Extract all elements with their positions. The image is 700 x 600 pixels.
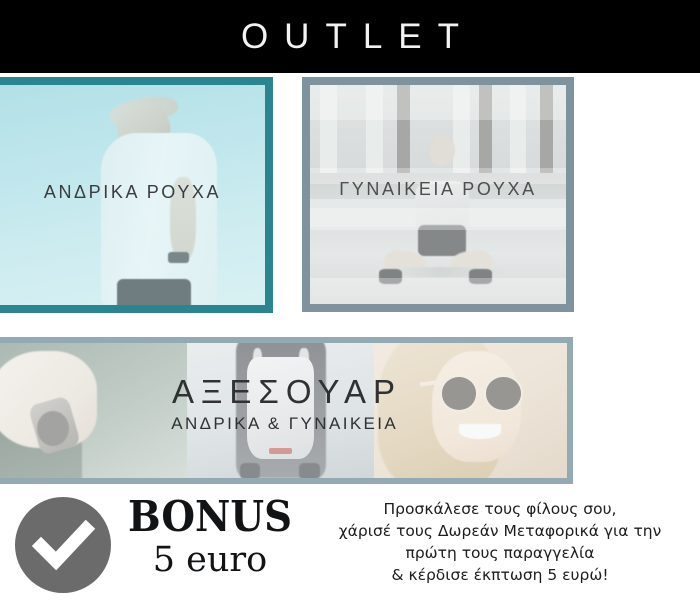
category-card-women[interactable]: ΓΥΝΑΙΚΕΙΑ ΡΟΥΧΑ bbox=[302, 77, 574, 312]
bonus-text-block: BONUS 5 euro bbox=[120, 496, 300, 581]
accessories-text-block: ΑΞΕΣΟΥΑΡ ΑΝΔΡΙΚΑ & ΓΥΝΑΙΚΕΙΑ bbox=[0, 375, 567, 434]
check-circle-icon bbox=[15, 497, 111, 593]
promo-line-3: πρώτη τους παραγγελία bbox=[300, 542, 700, 564]
bonus-row: BONUS 5 euro Προσκάλεσε τους φίλους σου,… bbox=[0, 492, 700, 600]
accessories-title: ΑΞΕΣΟΥΑΡ bbox=[0, 375, 567, 410]
accessories-subtitle: ΑΝΔΡΙΚΑ & ΓΥΝΑΙΚΕΙΑ bbox=[0, 414, 567, 434]
promo-line-1: Προσκάλεσε τους φίλους σου, bbox=[300, 498, 700, 520]
category-card-men[interactable]: ΑΝΔΡΙΚΑ ΡΟΥΧΑ bbox=[0, 77, 273, 313]
category-label-men: ΑΝΔΡΙΚΑ ΡΟΥΧΑ bbox=[0, 182, 265, 203]
page-title: OUTLET bbox=[225, 19, 475, 54]
promo-line-2: χάρισέ τους Δωρεάν Μεταφορικά για την bbox=[300, 520, 700, 542]
promo-text-block: Προσκάλεσε τους φίλους σου, χάρισέ τους … bbox=[300, 498, 700, 586]
page-header: OUTLET bbox=[0, 0, 700, 73]
bonus-word: BONUS bbox=[127, 496, 293, 538]
promo-line-4: & κέρδισε έκπτωση 5 ευρώ! bbox=[300, 564, 700, 586]
category-cards-row: ΑΝΔΡΙΚΑ ΡΟΥΧΑ bbox=[0, 77, 700, 315]
bonus-amount: 5 euro bbox=[120, 540, 300, 581]
category-label-women: ΓΥΝΑΙΚΕΙΑ ΡΟΥΧΑ bbox=[310, 179, 566, 200]
accessories-banner[interactable]: ΑΞΕΣΟΥΑΡ ΑΝΔΡΙΚΑ & ΓΥΝΑΙΚΕΙΑ bbox=[0, 337, 573, 484]
